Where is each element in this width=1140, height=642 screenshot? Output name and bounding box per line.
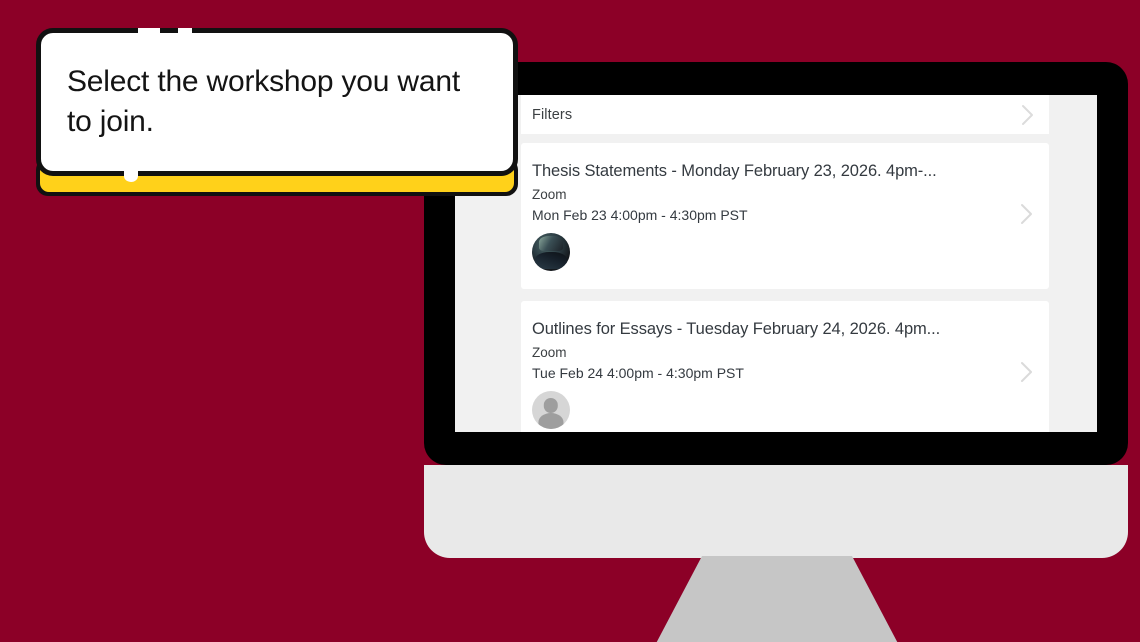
workshop-title: Outlines for Essays - Tuesday February 2… — [532, 320, 1003, 339]
callout-notch — [178, 28, 192, 34]
desktop-monitor-illustration: Filters Thesis Statements - Monday Febru… — [424, 62, 1128, 642]
callout-box: Select the workshop you want to join. — [36, 28, 518, 176]
workshop-title: Thesis Statements - Monday February 23, … — [532, 162, 1003, 181]
filters-label: Filters — [532, 107, 572, 123]
callout-text: Select the workshop you want to join. — [67, 62, 487, 142]
slide-canvas: Filters Thesis Statements - Monday Febru… — [0, 0, 1140, 642]
workshop-platform: Zoom — [532, 187, 1003, 202]
chevron-right-icon[interactable] — [1019, 102, 1037, 128]
workshop-card-body: Outlines for Essays - Tuesday February 2… — [532, 320, 1003, 429]
workshop-platform: Zoom — [532, 345, 1003, 360]
workshop-time: Mon Feb 23 4:00pm - 4:30pm PST — [532, 207, 1003, 223]
chevron-right-icon[interactable] — [1017, 199, 1037, 234]
monitor-stand-neck — [652, 556, 902, 642]
workshop-list-view: Filters Thesis Statements - Monday Febru… — [455, 95, 1097, 432]
monitor-screen: Filters Thesis Statements - Monday Febru… — [455, 95, 1097, 432]
instruction-callout: Select the workshop you want to join. — [36, 28, 518, 196]
avatar — [532, 391, 570, 429]
workshop-card[interactable]: Outlines for Essays - Tuesday February 2… — [521, 301, 1049, 432]
filters-bar[interactable]: Filters — [521, 95, 1049, 134]
callout-notch — [138, 28, 160, 34]
workshop-time: Tue Feb 24 4:00pm - 4:30pm PST — [532, 365, 1003, 381]
monitor-chin — [424, 465, 1128, 558]
avatar-body-shape — [538, 413, 563, 428]
chevron-right-icon[interactable] — [1017, 357, 1037, 392]
workshop-card-body: Thesis Statements - Monday February 23, … — [532, 162, 1003, 271]
avatar-head-shape — [544, 398, 558, 412]
callout-notch — [124, 170, 138, 182]
workshop-card[interactable]: Thesis Statements - Monday February 23, … — [521, 143, 1049, 289]
avatar — [532, 233, 570, 271]
